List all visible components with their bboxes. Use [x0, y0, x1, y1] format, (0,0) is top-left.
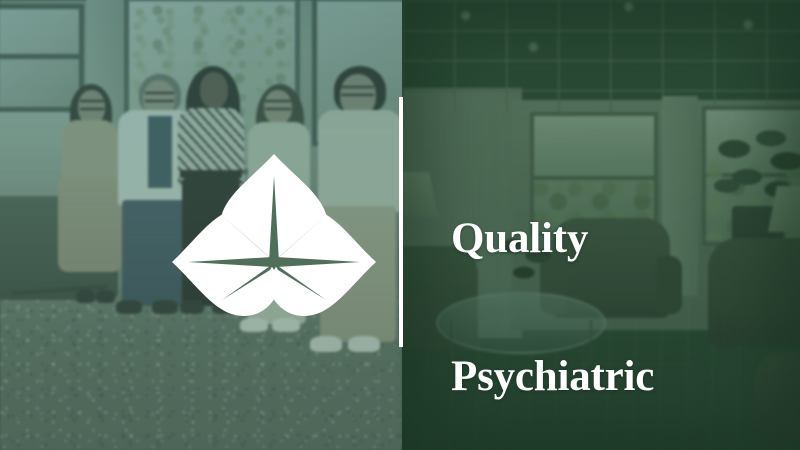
legs — [248, 200, 306, 324]
polo-shirt — [318, 110, 402, 212]
legs — [320, 206, 396, 342]
page-title: Quality Psychiatric Health and Wellness — [451, 124, 654, 450]
glasses-icon — [265, 100, 291, 110]
glasses-icon — [145, 92, 174, 102]
promo-banner: Quality Psychiatric Health and Wellness — [0, 0, 800, 450]
armchair — [754, 352, 800, 444]
glasses-icon — [341, 86, 374, 96]
shoe — [348, 336, 380, 352]
shoe — [76, 290, 95, 303]
headline-line-1: Quality — [451, 216, 654, 262]
scrub-top — [148, 116, 172, 188]
shoe — [180, 300, 204, 314]
staff-photo-content — [0, 0, 402, 450]
legs — [122, 200, 188, 306]
legs — [182, 178, 240, 306]
shoe — [116, 300, 142, 314]
staff-group-photo — [0, 0, 402, 450]
shoe — [152, 300, 178, 314]
belt — [180, 170, 242, 178]
scrub-top — [248, 122, 310, 206]
shoe — [240, 318, 268, 332]
window-left-icon — [0, 4, 84, 112]
skirt — [58, 178, 122, 272]
shoe — [212, 300, 236, 314]
shoe — [310, 336, 342, 352]
shoe — [272, 318, 300, 332]
glasses-icon — [80, 100, 104, 110]
left-photo-panel — [0, 0, 402, 450]
armchair — [708, 238, 800, 346]
drop-ceiling — [402, 0, 800, 112]
head — [200, 72, 228, 108]
shoe — [96, 290, 115, 303]
vertical-divider — [399, 97, 403, 347]
headline-line-2: Psychiatric — [451, 354, 654, 400]
